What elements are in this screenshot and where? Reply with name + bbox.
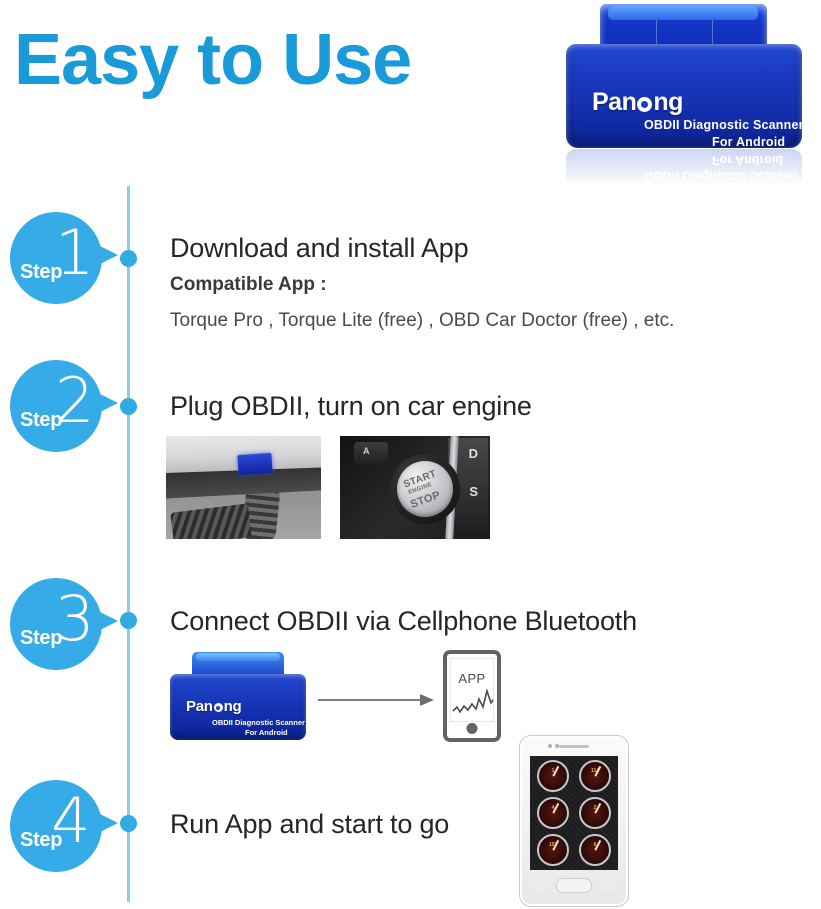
- gauge-dial: 2: [579, 797, 611, 829]
- gauge-dial: 1: [537, 760, 569, 792]
- gauge-dial: 114: [579, 760, 611, 792]
- step-1-title: Download and install App: [170, 233, 468, 264]
- device-tagline-1: OBDII Diagnostic Scanner: [644, 118, 804, 132]
- auto-stop-label: A: [363, 446, 370, 456]
- step-badge-2: Step 2: [10, 360, 102, 452]
- arrow-line: [318, 699, 422, 701]
- connection-arrow-icon: [318, 694, 436, 706]
- phone-home-button-icon: [467, 723, 478, 734]
- step-badge-3: Step 3: [10, 578, 102, 670]
- smartphone-dashboard-illustration: 1 114 4 2 103 6: [519, 735, 629, 907]
- phone-home-button: [556, 878, 592, 893]
- gauge-value: 6: [581, 842, 609, 848]
- gauge-value: 103: [539, 842, 567, 848]
- phone-screen-gauges: 1 114 4 2 103 6: [530, 756, 618, 870]
- step-badge-number-3: 3: [55, 588, 94, 650]
- phone-menu-button-icon: [534, 883, 546, 891]
- brand-o-mark-icon: [637, 97, 652, 112]
- mini-device-brand-logo: Panng: [186, 698, 241, 715]
- step-badge-tail-4: [92, 810, 118, 836]
- device-cap-highlight: [608, 6, 758, 20]
- obd-scanner-device: Panng OBDII Diagnostic Scanner For Andro…: [556, 2, 818, 188]
- car-footwell-obd-port-photo: [166, 436, 321, 539]
- timeline-dot-step-4: [120, 815, 137, 832]
- arrow-head: [420, 694, 434, 706]
- timeline-dot-step-3: [120, 612, 137, 629]
- timeline-dot-step-1: [120, 250, 137, 267]
- step-badge-number-2: 2: [55, 370, 94, 432]
- product-hero-image: Panng OBDII Diagnostic Scanner For Andro…: [556, 2, 818, 188]
- gauge-dial: 6: [579, 834, 611, 866]
- steps-timeline-line: [127, 186, 130, 902]
- gear-label-d: D: [469, 446, 478, 461]
- device-brand-logo: Panng: [592, 88, 683, 117]
- step-badge-1: Step 1: [10, 212, 102, 304]
- gear-label-s: S: [469, 484, 478, 499]
- step-badge-tail-1: [92, 242, 118, 268]
- mini-device-tagline-1: OBDII Diagnostic Scanner: [212, 718, 305, 727]
- gauge-value: 114: [581, 768, 609, 774]
- mini-brand-o-mark-icon: [214, 703, 223, 712]
- mini-brand-after: ng: [224, 698, 242, 715]
- app-chart-line-icon: [451, 685, 494, 719]
- step-3-device-illustration: Panng OBDII Diagnostic Scanner For Andro…: [166, 650, 310, 744]
- mini-device-cap-highlight: [196, 653, 280, 661]
- step-1-compatible-app-heading: Compatible App :: [170, 274, 327, 296]
- phone-app-screen: APP: [450, 658, 494, 722]
- gauge-value: 2: [581, 805, 609, 811]
- page-title: Easy to Use: [14, 24, 411, 96]
- step-4-title: Run App and start to go: [170, 809, 449, 840]
- gauge-value: 1: [539, 768, 567, 774]
- step-badge-tail-2: [92, 390, 118, 416]
- brand-text-before: Pan: [592, 88, 636, 116]
- step-2-title: Plug OBDII, turn on car engine: [170, 391, 532, 422]
- gauge-dial: 103: [537, 834, 569, 866]
- plugged-obd-device: [237, 453, 272, 475]
- device-body-lip: [572, 46, 796, 72]
- gauge-dial: 4: [537, 797, 569, 829]
- auto-stop-button: A: [354, 442, 388, 464]
- phone-earpiece-icon: [559, 745, 589, 748]
- step-3-title: Connect OBDII via Cellphone Bluetooth: [170, 606, 637, 637]
- brand-text-after: ng: [653, 88, 683, 116]
- phone-app-label: APP: [451, 671, 493, 686]
- timeline-dot-step-2: [120, 398, 137, 415]
- step-1-compatible-app-list: Torque Pro , Torque Lite (free) , OBD Ca…: [170, 310, 674, 332]
- phone-back-button-icon: [602, 883, 614, 891]
- mini-device-tagline-2: For Android: [245, 728, 288, 737]
- gauge-value: 4: [539, 805, 567, 811]
- device-tagline-2: For Android: [712, 135, 785, 149]
- step-badge-number-1: 1: [55, 222, 94, 284]
- phone-app-illustration: APP: [443, 650, 501, 742]
- step-badge-tail-3: [92, 608, 118, 634]
- step-badge-number-4: 4: [51, 790, 90, 852]
- step-badge-4: Step 4: [10, 780, 102, 872]
- mini-brand-before: Pan: [186, 698, 213, 715]
- phone-camera-icon: [548, 744, 552, 748]
- engine-start-stop-button-photo: D S A START ENGINE STOP: [340, 436, 490, 539]
- reflection-fade-overlay: [556, 149, 818, 191]
